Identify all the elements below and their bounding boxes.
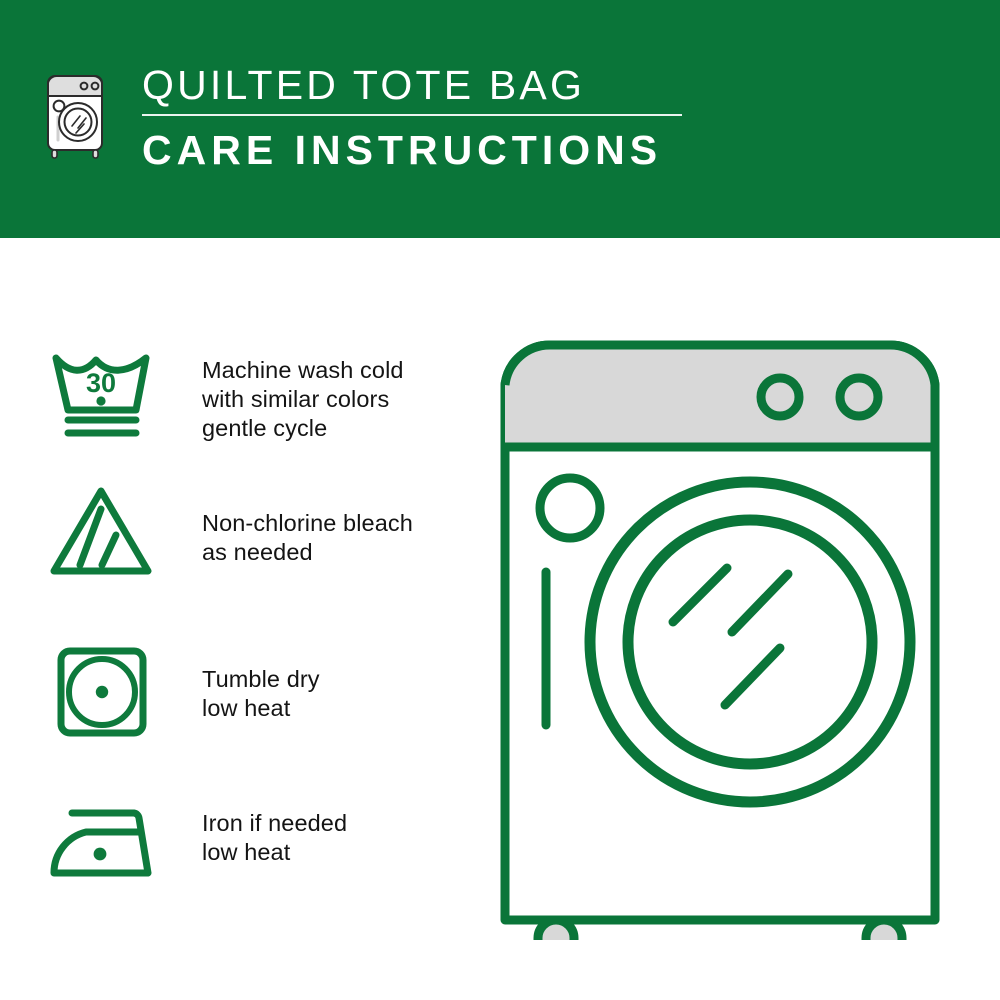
title-divider (142, 114, 682, 116)
leg-left (538, 920, 574, 940)
iron-low-heat-icon (48, 793, 158, 889)
tumble-dry-low-icon (48, 643, 158, 739)
care-instruction-list: 30 Machine wash cold with similar colors… (0, 238, 480, 1000)
header-content: QUILTED TOTE BAG CARE INSTRUCTIONS (44, 62, 682, 174)
header-banner: QUILTED TOTE BAG CARE INSTRUCTIONS (0, 0, 1000, 238)
page-subtitle: CARE INSTRUCTIONS (142, 116, 682, 174)
care-item-label: Non-chlorine bleach as needed (202, 483, 413, 567)
care-item-label: Machine wash cold with similar colors ge… (202, 346, 404, 443)
leg-right (866, 920, 902, 940)
care-item-bleach: Non-chlorine bleach as needed (48, 483, 478, 579)
front-load-washing-machine-illustration (480, 300, 1000, 940)
care-item-iron: Iron if needed low heat (48, 793, 478, 889)
care-item-label: Tumble dry low heat (202, 643, 320, 723)
wash-temperature-label: 30 (86, 368, 116, 398)
care-item-machine-wash: 30 Machine wash cold with similar colors… (48, 346, 478, 443)
care-item-tumble-dry: Tumble dry low heat (48, 643, 478, 739)
washing-machine-icon (44, 70, 106, 162)
header-title-block: QUILTED TOTE BAG CARE INSTRUCTIONS (142, 62, 682, 174)
page-title: QUILTED TOTE BAG (142, 62, 682, 114)
care-item-label: Iron if needed low heat (202, 793, 347, 867)
wash-tub-30-gentle-icon: 30 (48, 346, 158, 442)
non-chlorine-bleach-triangle-icon (48, 483, 158, 579)
control-panel (505, 345, 935, 447)
